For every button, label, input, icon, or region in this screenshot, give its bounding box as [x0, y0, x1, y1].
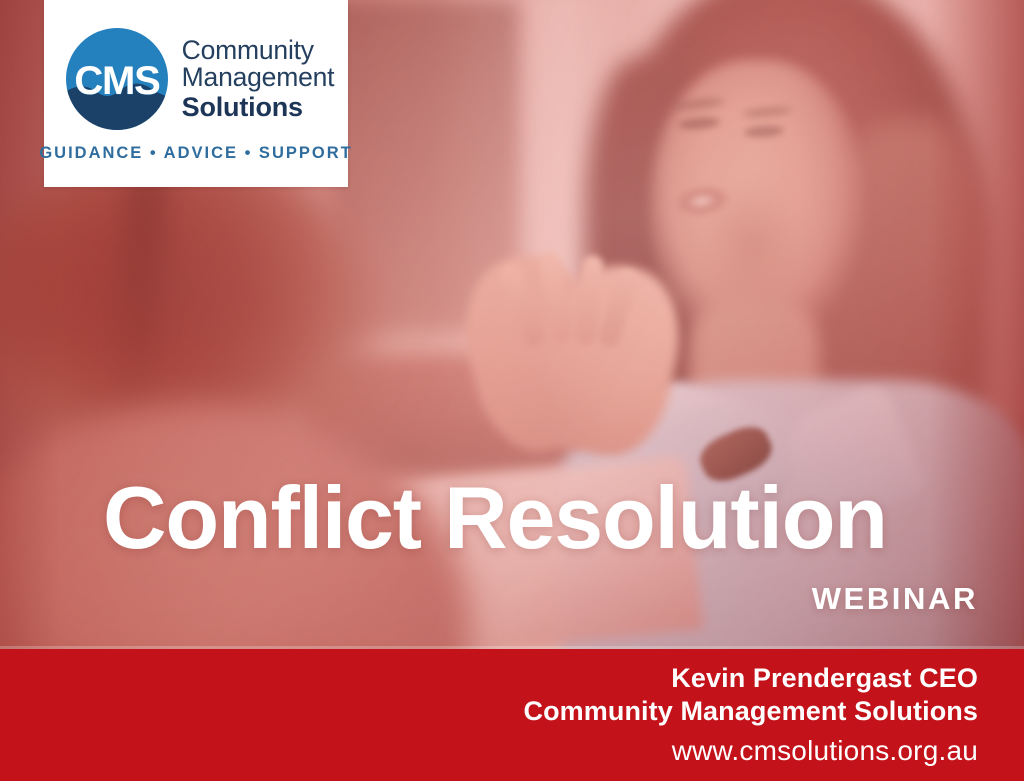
logo-word-solutions: Solutions — [182, 93, 335, 121]
logo-word-community: Community — [182, 37, 335, 65]
footer-hairline — [0, 646, 1024, 649]
organisation-name: Community Management Solutions — [0, 695, 978, 728]
cms-circle-logo-icon: CMS — [64, 26, 170, 132]
slide-canvas: CMS Community Management Solutions GUIDA… — [0, 0, 1024, 781]
page-subtitle: WEBINAR — [812, 583, 978, 614]
page-title: Conflict Resolution — [103, 474, 993, 562]
website-url[interactable]: www.cmsolutions.org.au — [0, 734, 978, 768]
logo-lockup: CMS Community Management Solutions — [58, 26, 335, 132]
logo-tagline: GUIDANCE • ADVICE • SUPPORT — [39, 144, 352, 163]
logo-word-management: Management — [182, 64, 335, 92]
brand-logo-box[interactable]: CMS Community Management Solutions GUIDA… — [44, 0, 348, 187]
presenter-name: Kevin Prendergast CEO — [0, 662, 978, 695]
svg-text:CMS: CMS — [74, 59, 160, 103]
footer-band: Kevin Prendergast CEO Community Manageme… — [0, 649, 1024, 781]
logo-wordmark: Community Management Solutions — [182, 37, 335, 121]
